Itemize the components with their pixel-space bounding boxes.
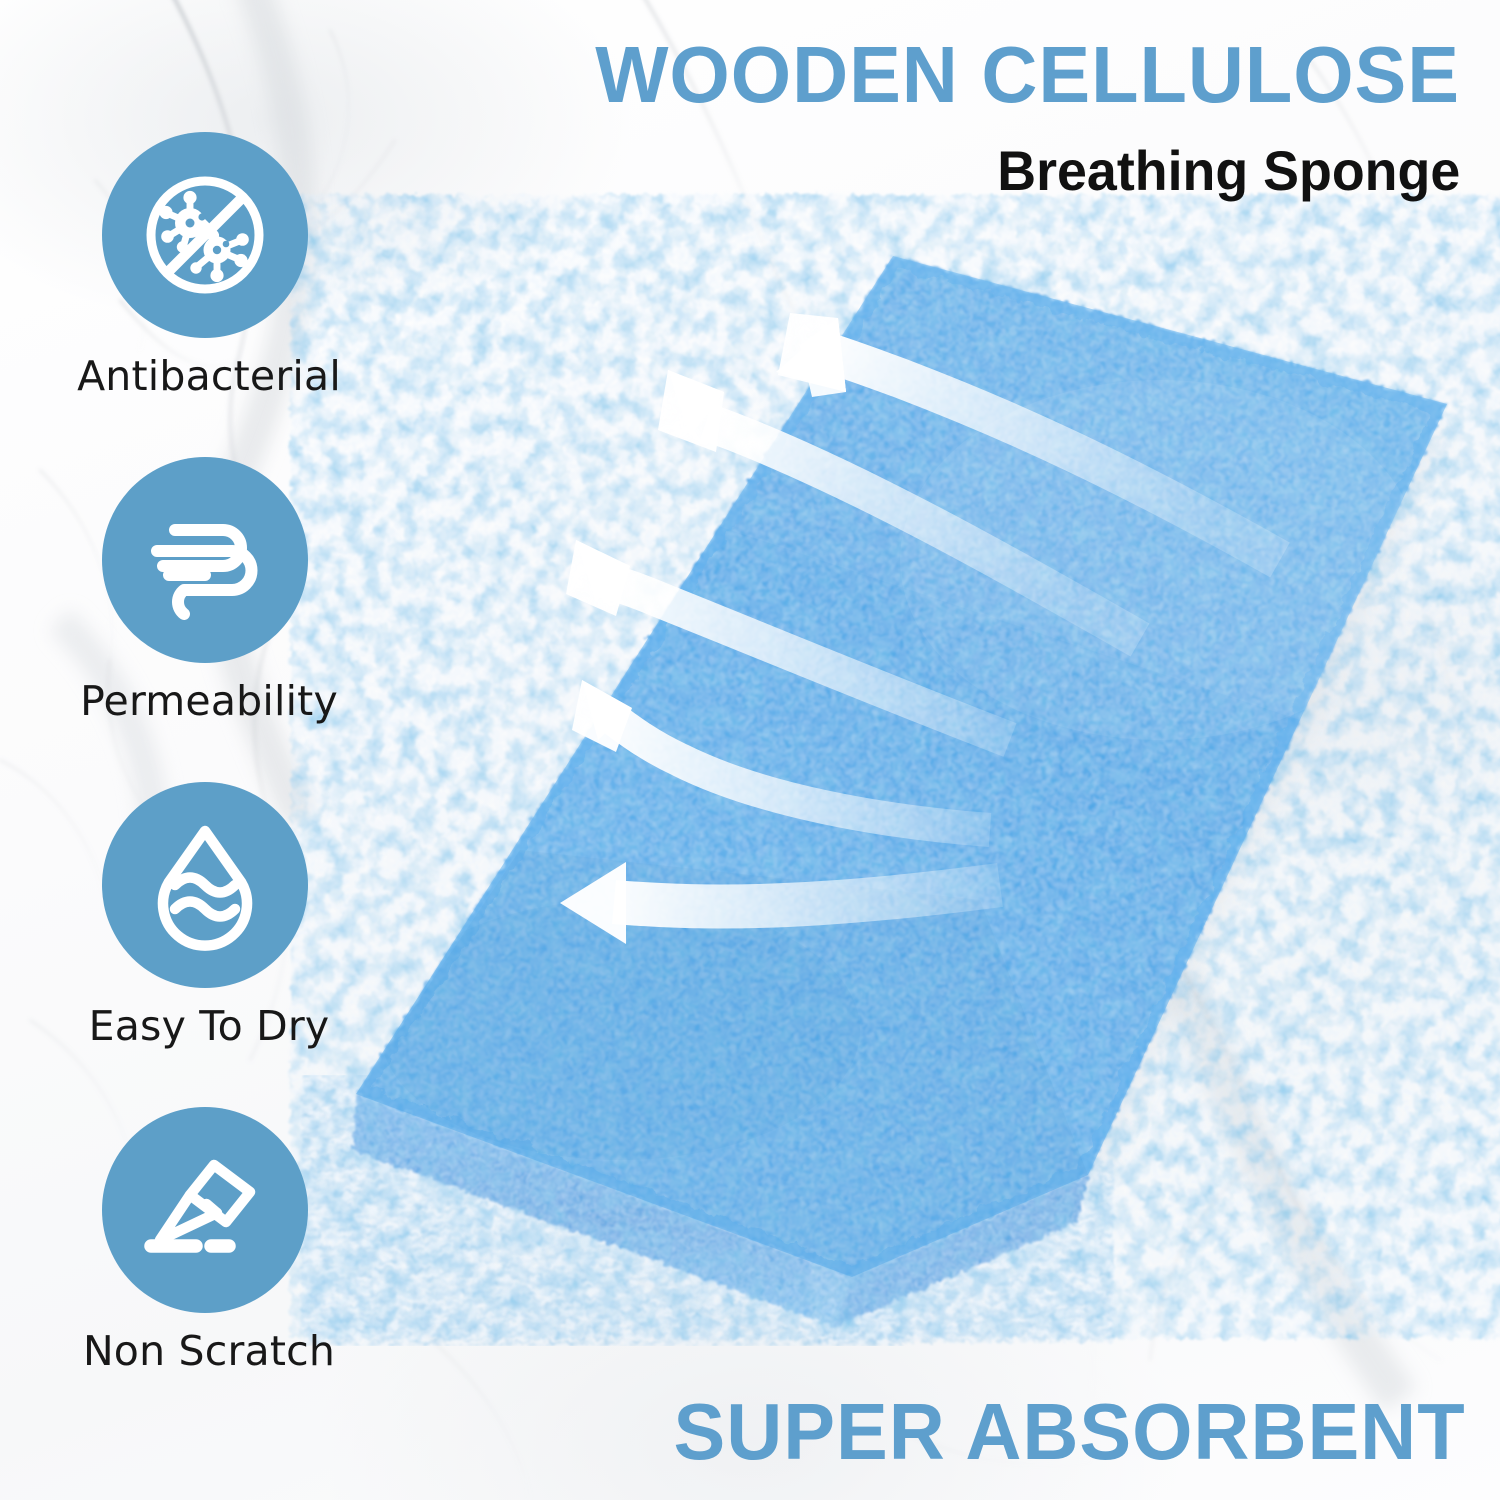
product-marketing-image: WOODEN CELLULOSE Breathing Sponge SUPER … — [0, 0, 1500, 1500]
page-title: WOODEN CELLULOSE — [44, 34, 1460, 116]
water-droplet-icon — [102, 782, 308, 988]
feature-item-antibacterial: Antibacterial — [66, 132, 366, 457]
feature-item-non-scratch: Non Scratch — [66, 1107, 366, 1432]
feature-item-permeability: Permeability — [66, 457, 366, 782]
feature-label: Non Scratch — [66, 1327, 352, 1375]
feature-item-easy-to-dry: Easy To Dry — [66, 782, 366, 1107]
bottom-tagline: SUPER ABSORBENT — [674, 1386, 1466, 1478]
page-subtitle: Breathing Sponge — [997, 138, 1460, 203]
feature-label: Easy To Dry — [66, 1002, 352, 1050]
feature-list: Antibacterial Permeability — [66, 132, 366, 1432]
airflow-icon — [102, 457, 308, 663]
feature-label: Antibacterial — [66, 352, 352, 400]
feature-label: Permeability — [66, 677, 352, 725]
eraser-on-surface-icon — [102, 1107, 308, 1313]
no-bacteria-icon — [102, 132, 308, 338]
